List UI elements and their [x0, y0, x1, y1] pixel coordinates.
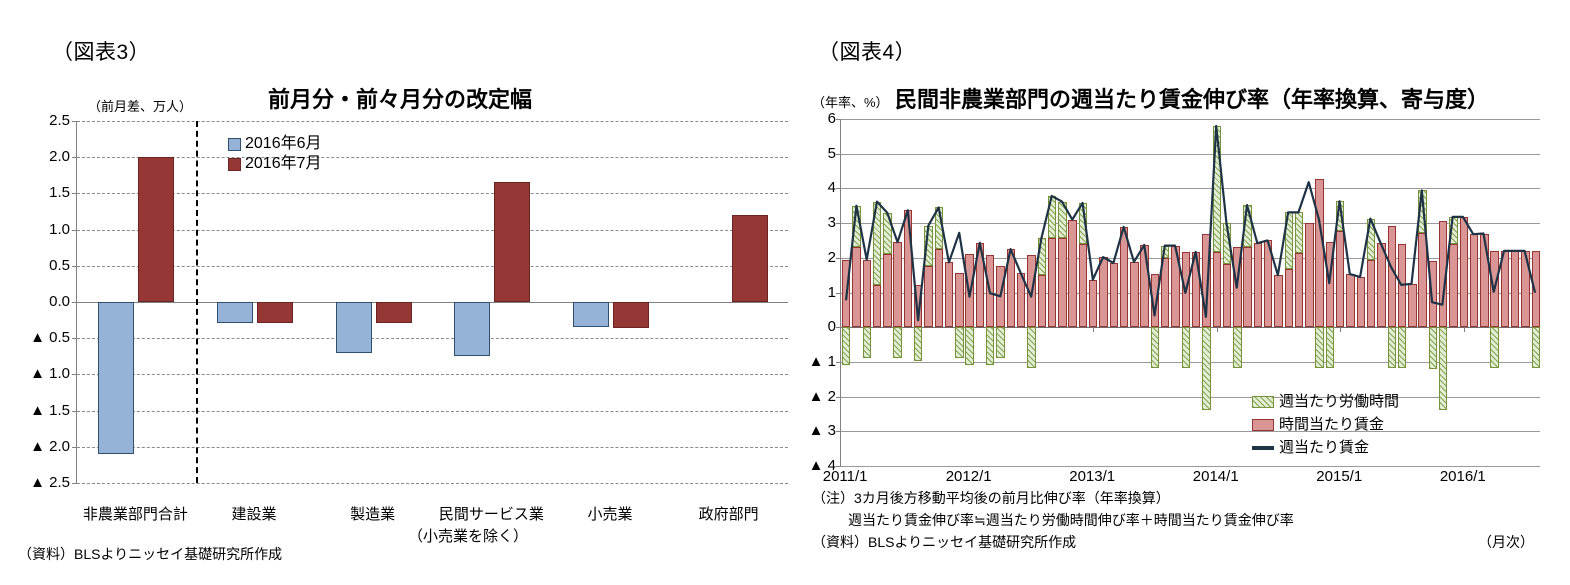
- left-gridline: [77, 266, 788, 267]
- left-y-tick: 0.5: [0, 257, 70, 274]
- right-y-tick: ▲ 3: [806, 422, 836, 439]
- right-frequency-note: （月次）: [1478, 532, 1534, 552]
- left-tick-mark: [72, 483, 77, 484]
- left-y-tick: ▲ 1.5: [0, 402, 70, 419]
- right-x-tick: 2011/1: [805, 468, 885, 485]
- left-bar: [217, 302, 253, 323]
- right-tick-mark: [836, 466, 841, 467]
- left-gridline: [77, 230, 788, 231]
- left-gridline: [77, 374, 788, 375]
- legend-label-2016-07: 2016年7月: [245, 154, 322, 174]
- right-x-tick: 2012/1: [929, 468, 1009, 485]
- left-category-label: 製造業: [313, 503, 432, 524]
- right-plot-area: [840, 119, 1540, 466]
- left-tick-mark: [72, 157, 77, 158]
- right-x-tick: 2016/1: [1423, 468, 1503, 485]
- left-category-label: 非農業部門合計: [76, 503, 195, 524]
- right-y-tick: ▲ 1: [806, 353, 836, 370]
- legend-swatch-blue: [228, 138, 241, 151]
- right-y-tick: 1: [806, 284, 836, 301]
- right-unit-label: （年率、%）: [812, 92, 889, 111]
- legend-label-weekly-wage: 週当たり賃金: [1279, 436, 1369, 459]
- left-gridline: [77, 447, 788, 448]
- left-unit-label: （前月差、万人）: [88, 96, 192, 115]
- right-note-1: （注）3カ月後方移動平均後の前月比伸び率（年率換算）: [812, 488, 1170, 508]
- left-y-tick: 2.0: [0, 148, 70, 165]
- left-gridline: [77, 483, 788, 484]
- right-y-tick: 4: [806, 179, 836, 196]
- right-x-tick: 2015/1: [1299, 468, 1379, 485]
- left-gridline: [77, 157, 788, 158]
- left-y-tick: 1.5: [0, 184, 70, 201]
- left-gridline: [77, 121, 788, 122]
- right-source-note: （資料）BLSよりニッセイ基礎研究所作成: [812, 532, 1076, 552]
- right-note-2: 週当たり賃金伸び率≒週当たり労働時間伸び率＋時間当たり賃金伸び率: [848, 510, 1294, 530]
- left-tick-mark: [72, 121, 77, 122]
- right-y-tick: 2: [806, 249, 836, 266]
- left-category-label: 建設業: [195, 503, 314, 524]
- left-bar: [732, 215, 768, 302]
- right-legend: 週当たり労働時間 時間当たり賃金 週当たり賃金: [1252, 390, 1399, 459]
- left-legend: 2016年6月 2016年7月: [228, 134, 322, 174]
- left-category-divider: [196, 121, 198, 483]
- right-x-tick: 2014/1: [1176, 468, 1256, 485]
- right-y-tick: 5: [806, 145, 836, 162]
- left-tick-mark: [72, 338, 77, 339]
- weekly-wage-line: [841, 119, 1540, 466]
- legend-swatch-hours: [1252, 396, 1274, 408]
- left-bar: [98, 302, 134, 454]
- left-bar: [573, 302, 609, 327]
- right-y-tick: 0: [806, 318, 836, 335]
- left-y-tick: 1.0: [0, 221, 70, 238]
- left-tick-mark: [72, 374, 77, 375]
- left-y-tick: ▲ 2.5: [0, 474, 70, 491]
- figures-page: （図表3） （前月差、万人） 前月分・前々月分の改定幅 2.52.01.51.0…: [0, 0, 1570, 585]
- left-tick-mark: [72, 411, 77, 412]
- legend-item-hourly-wage: 時間当たり賃金: [1252, 413, 1399, 436]
- legend-label-hourly-wage: 時間当たり賃金: [1279, 413, 1384, 436]
- left-tick-mark: [72, 266, 77, 267]
- left-bar: [454, 302, 490, 356]
- right-chart-title: 民間非農業部門の週当たり賃金伸び率（年率換算、寄与度）: [895, 82, 1489, 114]
- left-y-tick: ▲ 0.5: [0, 329, 70, 346]
- left-source-note: （資料）BLSよりニッセイ基礎研究所作成: [18, 544, 282, 564]
- left-y-tick: ▲ 2.0: [0, 438, 70, 455]
- left-y-tick: ▲ 1.0: [0, 365, 70, 382]
- left-category-label: 政府部門: [669, 503, 788, 524]
- left-y-tick: 2.5: [0, 112, 70, 129]
- left-bar: [613, 302, 649, 328]
- left-gridline: [77, 193, 788, 194]
- left-category-sublabel: （小売業を除く）: [368, 525, 568, 546]
- legend-item-2016-06: 2016年6月: [228, 134, 322, 154]
- left-bar: [138, 157, 174, 302]
- legend-item-2016-07: 2016年7月: [228, 154, 322, 174]
- left-chart-title: 前月分・前々月分の改定幅: [268, 82, 532, 114]
- left-bar: [336, 302, 372, 353]
- legend-item-weekly-hours: 週当たり労働時間: [1252, 390, 1399, 413]
- left-category-label: 民間サービス業: [432, 503, 551, 524]
- left-figure-label: （図表3）: [52, 36, 150, 66]
- legend-item-weekly-wage: 週当たり賃金: [1252, 436, 1399, 459]
- left-category-label: 小売業: [551, 503, 670, 524]
- legend-swatch-red: [228, 158, 241, 171]
- legend-label-2016-06: 2016年6月: [245, 134, 322, 154]
- left-bar: [376, 302, 412, 323]
- legend-swatch-weekly-wage: [1252, 446, 1274, 450]
- right-y-tick: ▲ 2: [806, 388, 836, 405]
- left-bar: [494, 182, 530, 302]
- left-bar: [257, 302, 293, 323]
- left-gridline: [77, 302, 788, 303]
- left-tick-mark: [72, 193, 77, 194]
- left-y-tick: 0.0: [0, 293, 70, 310]
- left-gridline: [77, 338, 788, 339]
- left-tick-mark: [72, 302, 77, 303]
- right-y-tick: 6: [806, 110, 836, 127]
- left-gridline: [77, 411, 788, 412]
- right-y-tick: 3: [806, 214, 836, 231]
- legend-label-weekly-hours: 週当たり労働時間: [1279, 390, 1399, 413]
- left-tick-mark: [72, 447, 77, 448]
- right-x-tick: 2013/1: [1052, 468, 1132, 485]
- left-plot-area: [76, 121, 788, 483]
- legend-swatch-hourly-wage: [1252, 419, 1274, 431]
- right-gridline: [841, 466, 1540, 467]
- left-tick-mark: [72, 230, 77, 231]
- right-figure-label: （図表4）: [818, 36, 916, 66]
